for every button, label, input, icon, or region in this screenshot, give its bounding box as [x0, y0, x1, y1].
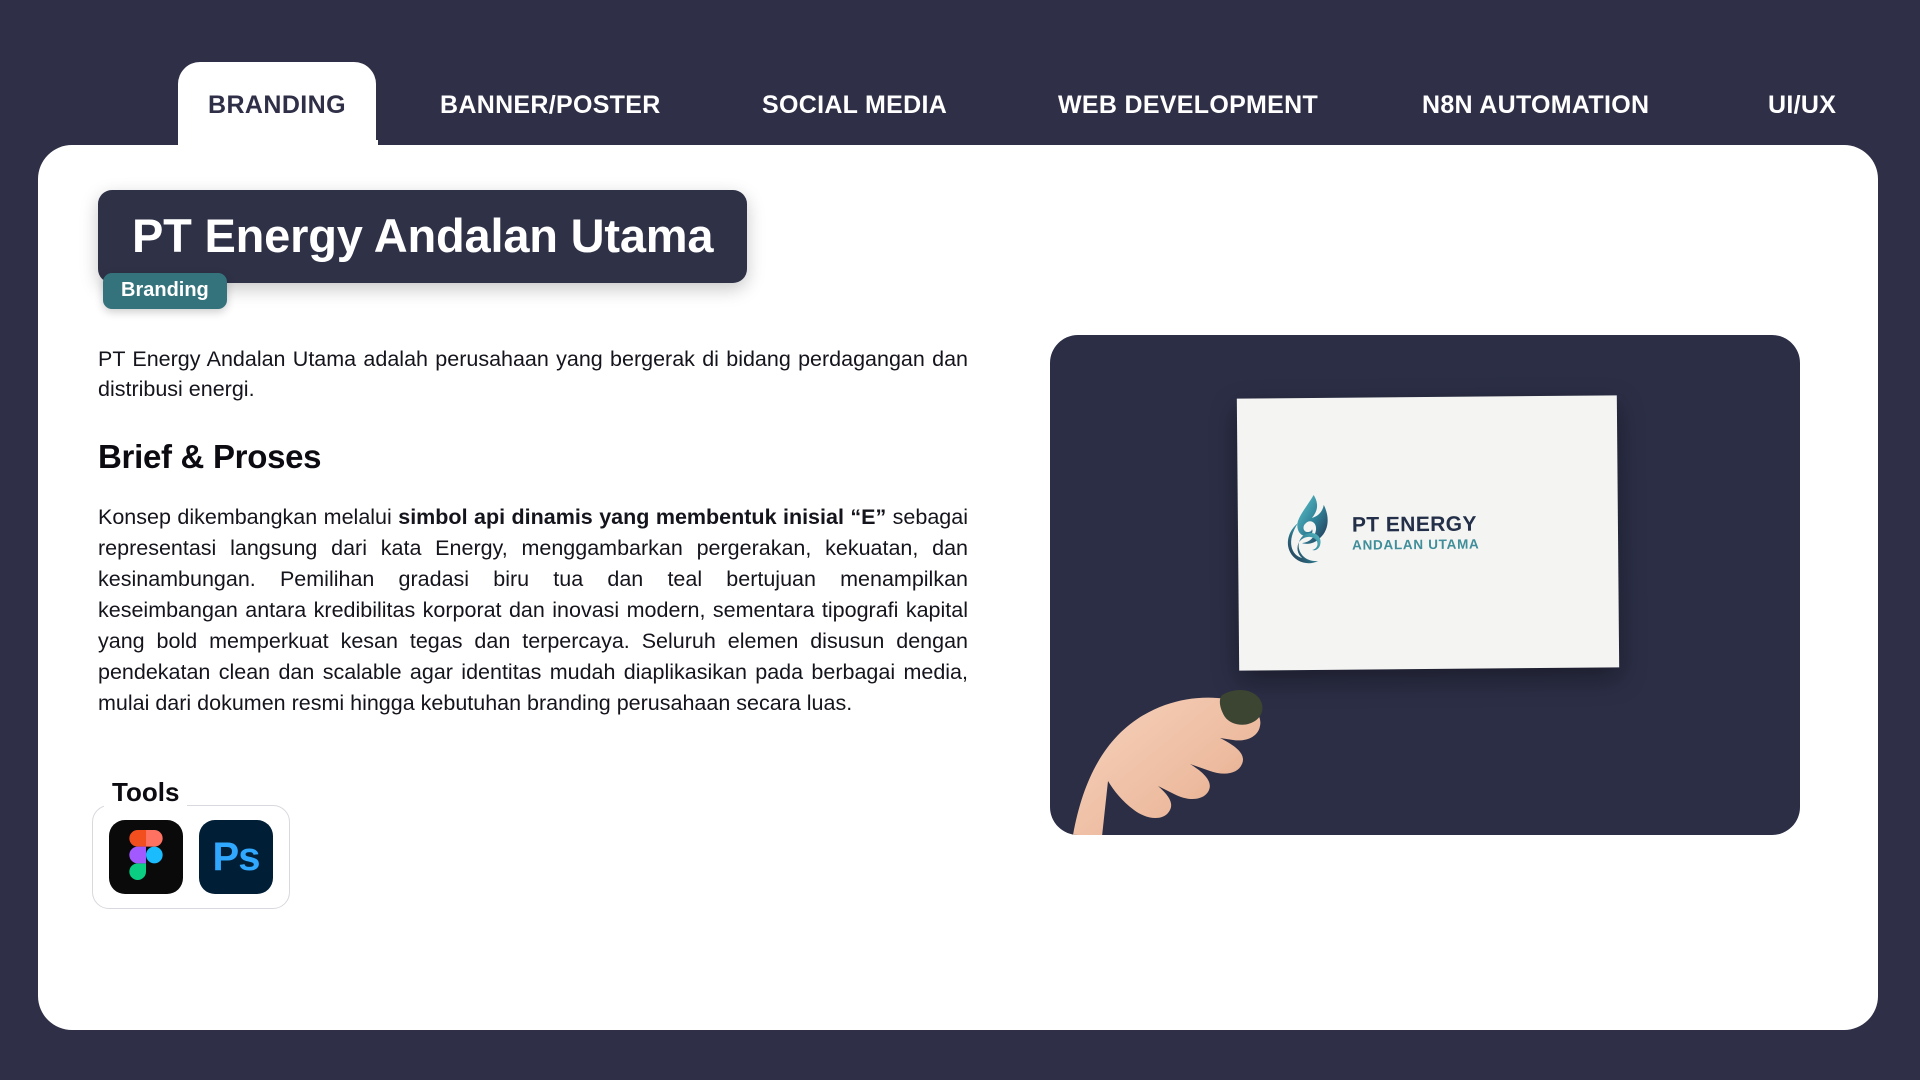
- tab-web-development-label: WEB DEVELOPMENT: [1058, 93, 1318, 118]
- flame-e-icon: [1278, 493, 1341, 577]
- description-part-1: Konsep dikembangkan melalui: [98, 505, 398, 529]
- tab-social-media-label: SOCIAL MEDIA: [762, 93, 947, 118]
- tab-banner-poster[interactable]: BANNER/POSTER: [440, 62, 661, 148]
- logo-text-block: PT ENERGY ANDALAN UTAMA: [1352, 514, 1480, 554]
- category-tabbar: BRANDING BANNER/POSTER SOCIAL MEDIA WEB …: [0, 0, 1920, 148]
- tab-banner-poster-label: BANNER/POSTER: [440, 93, 661, 118]
- tab-branding-label: BRANDING: [178, 62, 376, 148]
- description-part-2: sebagai representasi langsung dari kata …: [98, 505, 968, 715]
- figma-icon: [129, 830, 163, 885]
- tools-section: Tools Ps: [92, 805, 290, 909]
- project-details: PT Energy Andalan Utama Branding PT Ener…: [98, 190, 968, 719]
- tools-label: Tools: [104, 777, 187, 808]
- tab-n8n-automation[interactable]: N8N AUTOMATION: [1422, 62, 1649, 148]
- logo-secondary-text: ANDALAN UTAMA: [1352, 538, 1479, 554]
- project-image-mockup: PT ENERGY ANDALAN UTAMA: [1050, 335, 1800, 835]
- page-root: BRANDING BANNER/POSTER SOCIAL MEDIA WEB …: [0, 0, 1920, 1080]
- active-tab-seam: [178, 140, 378, 156]
- tab-n8n-automation-label: N8N AUTOMATION: [1422, 93, 1649, 118]
- description-emphasis: simbol api dinamis yang membentuk inisia…: [398, 505, 886, 529]
- project-summary: PT Energy Andalan Utama adalah perusahaa…: [98, 345, 968, 404]
- tab-ui-ux[interactable]: UI/UX: [1768, 62, 1836, 148]
- status-badge: Branding: [103, 273, 227, 309]
- logo-primary-text: PT ENERGY: [1352, 514, 1480, 537]
- tab-ui-ux-label: UI/UX: [1768, 93, 1836, 118]
- tab-social-media[interactable]: SOCIAL MEDIA: [762, 62, 947, 148]
- tab-web-development[interactable]: WEB DEVELOPMENT: [1058, 62, 1318, 148]
- tool-item-photoshop[interactable]: Ps: [199, 820, 273, 894]
- brand-logo-lockup: PT ENERGY ANDALAN UTAMA: [1278, 492, 1480, 577]
- section-heading-brief-proses: Brief & Proses: [98, 438, 968, 476]
- tools-list: Ps: [92, 805, 290, 909]
- hand-svg: [1070, 565, 1400, 835]
- hand-illustration: [1070, 565, 1380, 835]
- photoshop-icon: Ps: [213, 835, 260, 880]
- tab-branding[interactable]: BRANDING: [178, 62, 376, 148]
- project-description: Konsep dikembangkan melalui simbol api d…: [98, 502, 968, 719]
- page-title: PT Energy Andalan Utama: [98, 190, 747, 283]
- tool-item-figma[interactable]: [109, 820, 183, 894]
